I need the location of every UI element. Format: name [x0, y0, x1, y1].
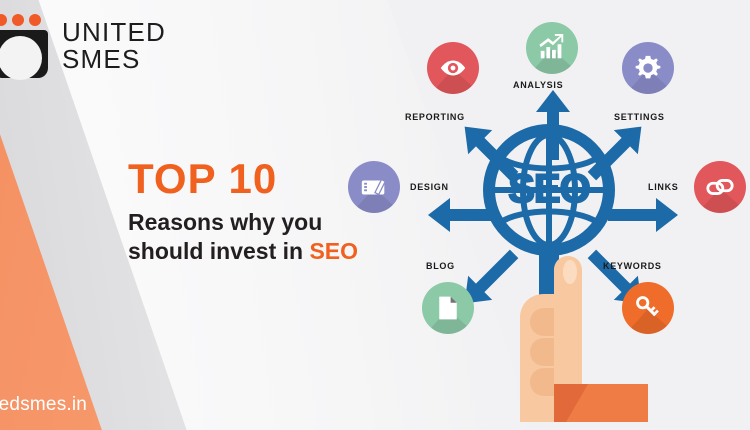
- keywords-bubble[interactable]: [622, 282, 674, 334]
- headline-subtitle: Reasons why you should invest in SEO: [128, 208, 358, 265]
- svg-text:SEO: SEO: [508, 167, 589, 211]
- node-keywords[interactable]: KEYWORDS: [622, 282, 674, 334]
- keywords-label: KEYWORDS: [603, 261, 662, 271]
- seo-banner-canvas: UNITED SMES TOP 10 Reasons why you shoul…: [0, 0, 750, 430]
- eye-icon: [438, 53, 468, 83]
- brand-name-line1: UNITED: [62, 19, 166, 46]
- website-url[interactable]: nitedsmes.in: [0, 394, 87, 416]
- settings-bubble[interactable]: [622, 42, 674, 94]
- brand-name-line2: SMES: [62, 46, 166, 73]
- design-bubble[interactable]: [348, 161, 400, 213]
- logo-circle-shape: [0, 36, 42, 80]
- logo-dots-group: [0, 14, 41, 26]
- reporting-bubble[interactable]: [427, 42, 479, 94]
- links-bubble[interactable]: [694, 161, 746, 213]
- blog-bubble[interactable]: [422, 282, 474, 334]
- logo-dot: [29, 14, 41, 26]
- gear-icon: [633, 53, 663, 83]
- node-links[interactable]: LINKS: [694, 161, 746, 213]
- logo-dot: [12, 14, 24, 26]
- analysis-label: ANALYSIS: [513, 80, 563, 90]
- document-icon: [434, 294, 462, 322]
- chain-link-icon: [705, 172, 735, 202]
- bar-chart-icon: [537, 33, 567, 63]
- node-reporting[interactable]: REPORTING: [427, 42, 479, 94]
- node-blog[interactable]: BLOG: [422, 282, 474, 334]
- brand-logo-text: UNITED SMES: [62, 19, 166, 73]
- analysis-bubble[interactable]: [526, 22, 578, 74]
- tablet-pen-icon: [359, 172, 389, 202]
- blog-label: BLOG: [426, 261, 455, 271]
- seo-letters: SEO: [508, 167, 589, 211]
- node-design[interactable]: DESIGN: [348, 161, 400, 213]
- settings-label: SETTINGS: [614, 112, 665, 122]
- seo-infographic: SEO: [350, 0, 750, 430]
- links-label: LINKS: [648, 182, 679, 192]
- brand-logo-icon: [0, 14, 48, 78]
- design-label: DESIGN: [410, 182, 449, 192]
- node-analysis[interactable]: ANALYSIS: [526, 22, 578, 74]
- node-settings[interactable]: SETTINGS: [622, 42, 674, 94]
- headline-block: TOP 10 Reasons why you should invest in …: [128, 158, 358, 265]
- headline-top: TOP 10: [128, 158, 358, 200]
- logo-dot: [0, 14, 7, 26]
- key-icon: [633, 293, 663, 323]
- magnifying-glass-globe-icon: SEO: [458, 122, 648, 422]
- brand-logo[interactable]: UNITED SMES: [0, 14, 166, 78]
- reporting-label: REPORTING: [405, 112, 465, 122]
- headline-sub-line2: should invest in: [128, 238, 309, 264]
- headline-sub-line1: Reasons why you: [128, 209, 322, 235]
